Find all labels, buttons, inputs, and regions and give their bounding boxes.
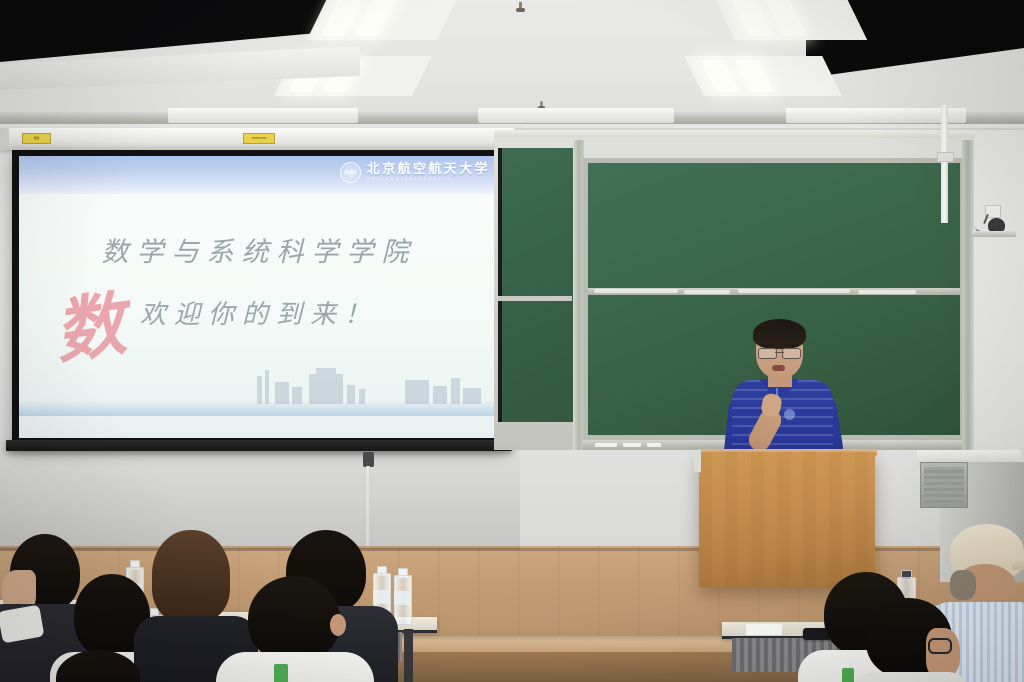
audience-head <box>248 576 340 662</box>
seal-text: BUAA <box>344 170 356 176</box>
paper-sheet <box>746 624 782 635</box>
slide-title-line-1: 数学与系统科学学院 <box>19 230 499 269</box>
audience-hair <box>950 570 976 600</box>
warning-label: 警告 <box>22 133 51 144</box>
campus-skyline-graphic <box>19 360 499 404</box>
blackboard-right-post <box>962 140 974 450</box>
audience-member <box>56 650 140 682</box>
wall-shadow <box>0 430 520 550</box>
projector-screen-housing[interactable]: 警告 ATTENTION <box>0 128 525 150</box>
chalk-stick[interactable] <box>647 443 661 447</box>
glasses-icon <box>758 348 801 357</box>
slide-water-band <box>19 400 499 416</box>
tshirt-logo <box>274 664 288 682</box>
cabinet-flap-panel[interactable] <box>920 462 968 508</box>
presenter-shirt-badge <box>784 409 795 420</box>
rail-segment <box>168 108 358 123</box>
university-name-en: BEIHANG UNIVERSITY <box>367 178 490 182</box>
audience-ear <box>330 614 346 636</box>
water-bottle[interactable] <box>394 568 410 623</box>
blackboard-panel-left[interactable] <box>498 148 576 422</box>
chalk-stick[interactable] <box>623 443 641 447</box>
warning-label: ATTENTION <box>243 133 275 144</box>
audience-body <box>852 672 970 682</box>
rail-segment <box>478 108 674 123</box>
projected-slide: BUAA 北京航空航天大学 BEIHANG UNIVERSITY 数 数学与系统… <box>19 156 499 438</box>
wall-pipe <box>941 105 948 223</box>
audience-member <box>852 598 962 682</box>
projector-screen[interactable]: BUAA 北京航空航天大学 BEIHANG UNIVERSITY 数 数学与系统… <box>12 150 506 447</box>
fire-sprinkler-icon <box>516 2 525 15</box>
presenter-mouth <box>772 365 785 371</box>
audience-body <box>216 652 374 682</box>
chalk-stick[interactable] <box>595 443 617 447</box>
cap-brim <box>1012 558 1024 570</box>
blackboard-mid-rail <box>588 288 960 295</box>
university-name-cn: 北京航空航天大学 <box>367 163 490 176</box>
rail-segment <box>786 108 966 123</box>
lecture-hall-photo: 警告 ATTENTION BUAA 北京航空航天大学 BEIHANG UNIVE… <box>0 0 1024 682</box>
blackboard-left-divider <box>498 296 572 301</box>
ceiling-light-cluster-right <box>700 0 900 104</box>
pipe-clip <box>937 152 954 162</box>
desk-leg <box>404 629 413 682</box>
university-logo: BUAA 北京航空航天大学 BEIHANG UNIVERSITY <box>340 162 490 183</box>
presenter <box>718 322 848 467</box>
audience-head <box>56 650 140 682</box>
camera-shelf <box>972 231 1016 237</box>
podium <box>699 452 875 587</box>
slide-title-line-2: 欢迎你的到来！ <box>19 294 499 331</box>
glasses-icon <box>928 638 952 654</box>
podium-wing <box>694 450 701 473</box>
university-seal-icon: BUAA <box>340 162 361 183</box>
audience-member <box>212 576 378 682</box>
